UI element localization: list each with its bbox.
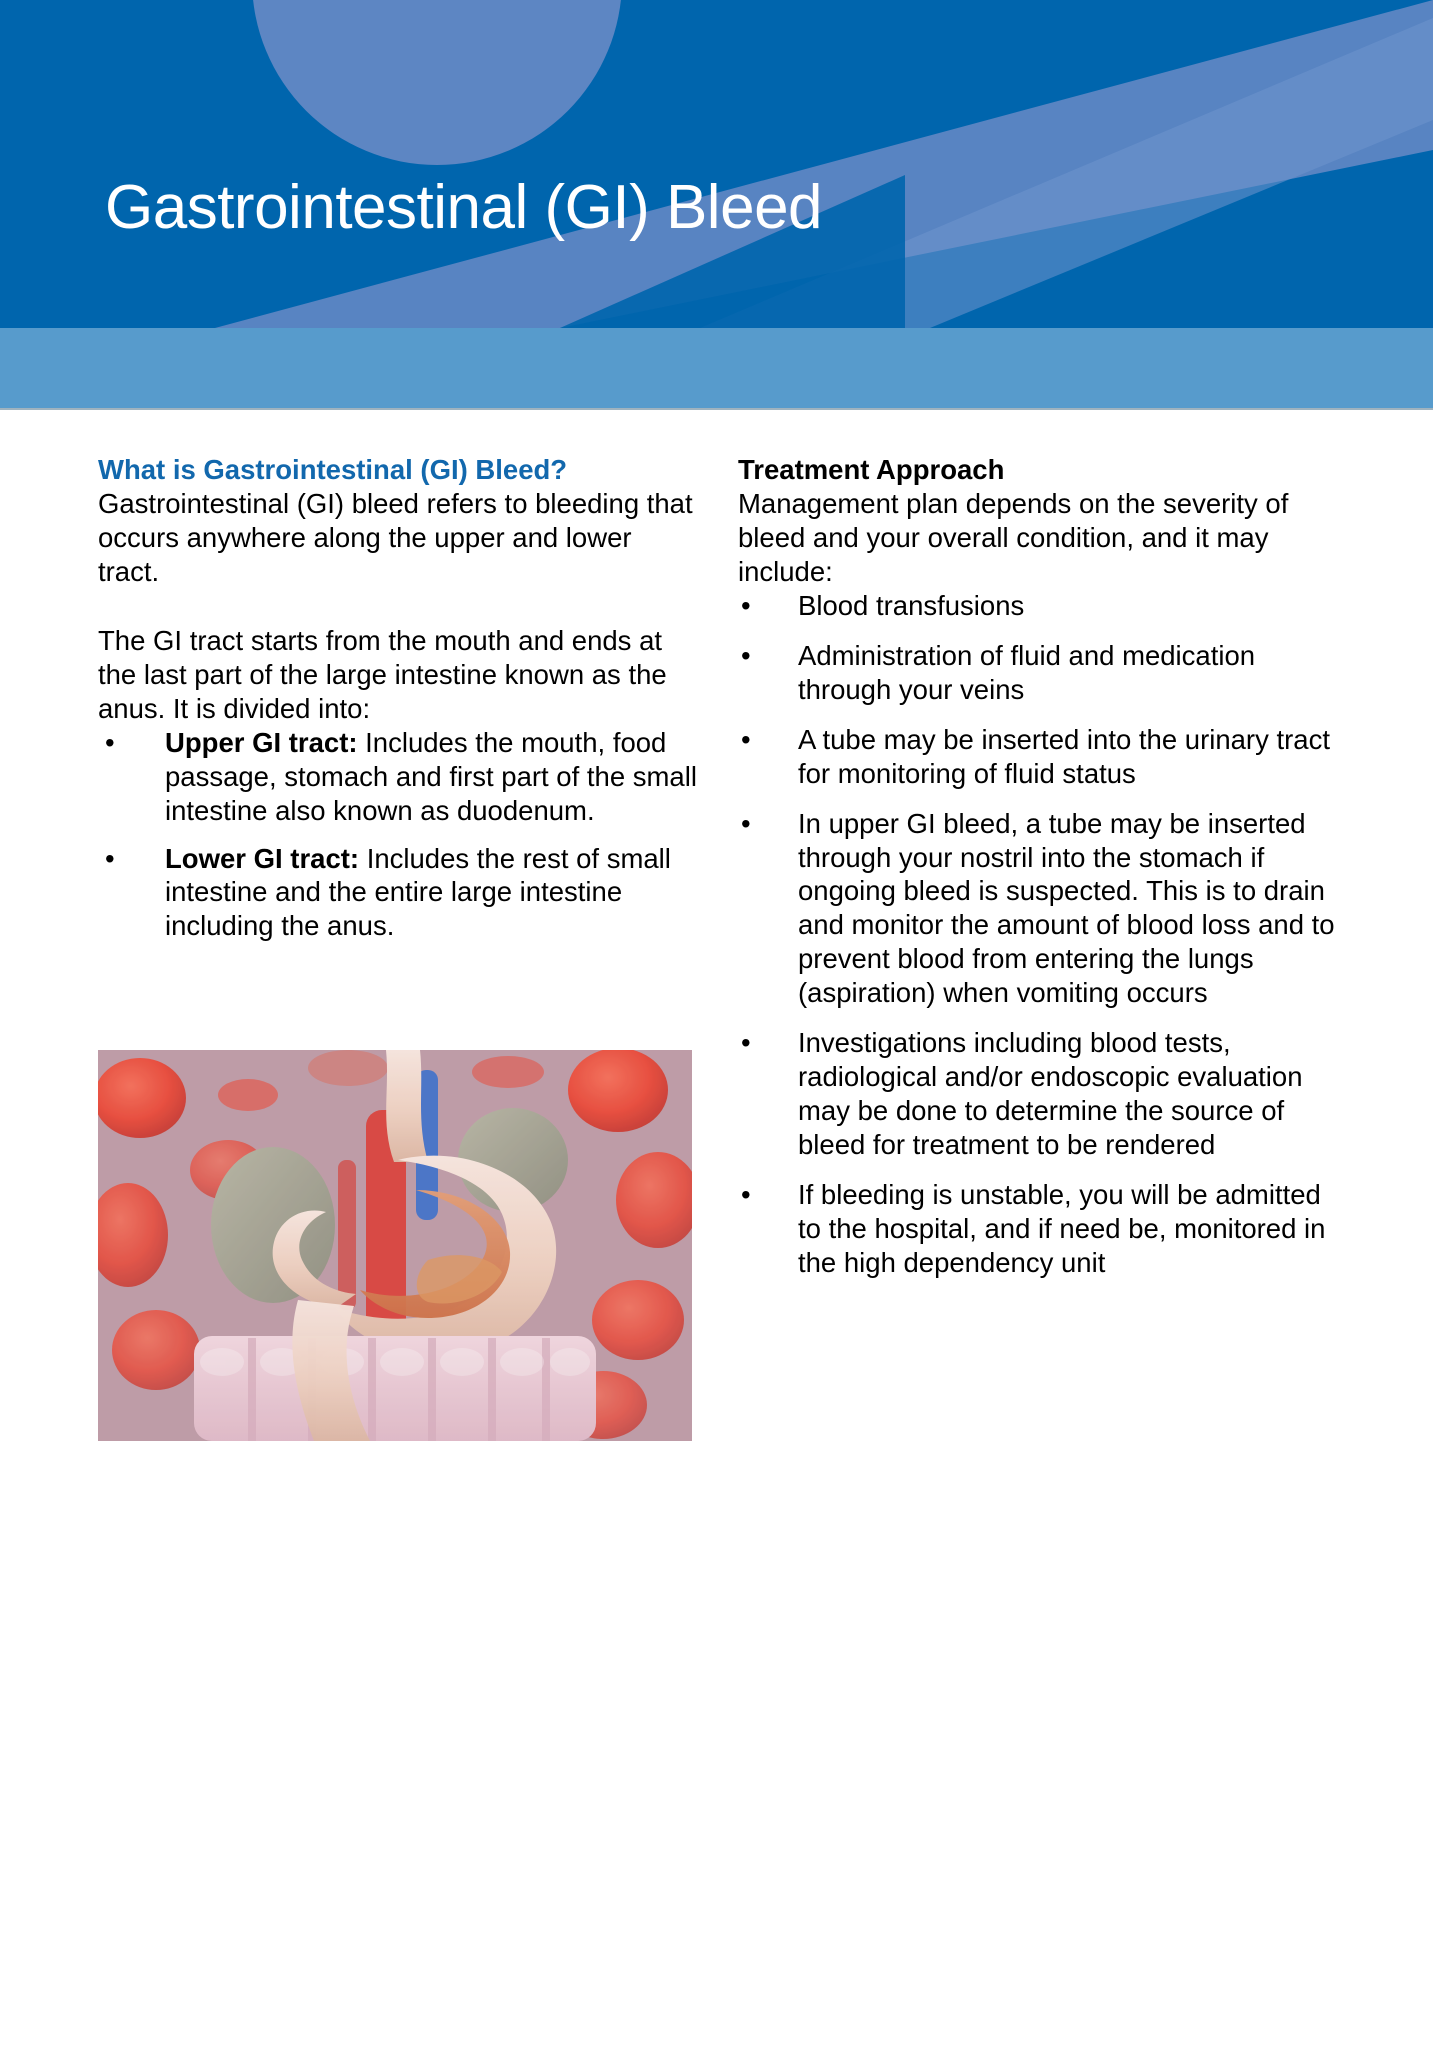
treatment-intro-paragraph: Management plan depends on the severity … <box>738 487 1338 589</box>
list-item-lead: Lower GI tract: <box>165 843 359 874</box>
header-accent-band <box>0 328 1433 410</box>
bullet-dot-icon: • <box>741 1178 751 1212</box>
bullet-dot-icon: • <box>741 639 751 673</box>
list-item: • If bleeding is unstable, you will be a… <box>738 1178 1338 1280</box>
list-item: • A tube may be inserted into the urinar… <box>738 723 1338 791</box>
bullet-dot-icon: • <box>741 807 751 841</box>
page-title: Gastrointestinal (GI) Bleed <box>105 172 822 243</box>
gi-anatomy-illustration <box>98 1050 692 1441</box>
bullet-dot-icon: • <box>105 726 115 760</box>
list-item-text: If bleeding is unstable, you will be adm… <box>798 1179 1325 1278</box>
bullet-dot-icon: • <box>741 1026 751 1060</box>
list-item-lead: Upper GI tract: <box>165 727 358 758</box>
bullet-dot-icon: • <box>741 723 751 757</box>
list-item: • Upper GI tract: Includes the mouth, fo… <box>98 726 698 828</box>
left-column: What is Gastrointestinal (GI) Bleed? Gas… <box>98 453 698 1441</box>
two-column-layout: What is Gastrointestinal (GI) Bleed? Gas… <box>0 453 1433 1441</box>
list-item-text: Investigations including blood tests, ra… <box>798 1027 1303 1160</box>
right-section-heading: Treatment Approach <box>738 453 1338 487</box>
gi-anatomy-graphic <box>98 1050 692 1441</box>
list-item-text: A tube may be inserted into the urinary … <box>798 724 1330 789</box>
header-decorative-shapes <box>0 0 1433 328</box>
page-header: Gastrointestinal (GI) Bleed <box>0 0 1433 328</box>
gi-tract-list: • Upper GI tract: Includes the mouth, fo… <box>98 726 698 944</box>
treatment-list: • Blood transfusions • Administration of… <box>738 589 1338 1280</box>
list-item-text: Blood transfusions <box>798 590 1024 621</box>
left-paragraph-2: The GI tract starts from the mouth and e… <box>98 624 698 726</box>
page-content: What is Gastrointestinal (GI) Bleed? Gas… <box>0 410 1433 1441</box>
list-item: • Blood transfusions <box>738 589 1338 623</box>
list-item: • In upper GI bleed, a tube may be inser… <box>738 807 1338 1011</box>
list-item-text: In upper GI bleed, a tube may be inserte… <box>798 808 1335 1009</box>
paragraph-spacer <box>98 589 698 624</box>
list-item: • Investigations including blood tests, … <box>738 1026 1338 1162</box>
left-section-heading: What is Gastrointestinal (GI) Bleed? <box>98 453 698 487</box>
bullet-dot-icon: • <box>741 589 751 623</box>
list-item: • Lower GI tract: Includes the rest of s… <box>98 842 698 944</box>
list-item-text: Administration of fluid and medication t… <box>798 640 1255 705</box>
bullet-dot-icon: • <box>105 842 115 876</box>
left-paragraph-1: Gastrointestinal (GI) bleed refers to bl… <box>98 487 698 589</box>
right-column: Treatment Approach Management plan depen… <box>738 453 1338 1296</box>
list-item: • Administration of fluid and medication… <box>738 639 1338 707</box>
